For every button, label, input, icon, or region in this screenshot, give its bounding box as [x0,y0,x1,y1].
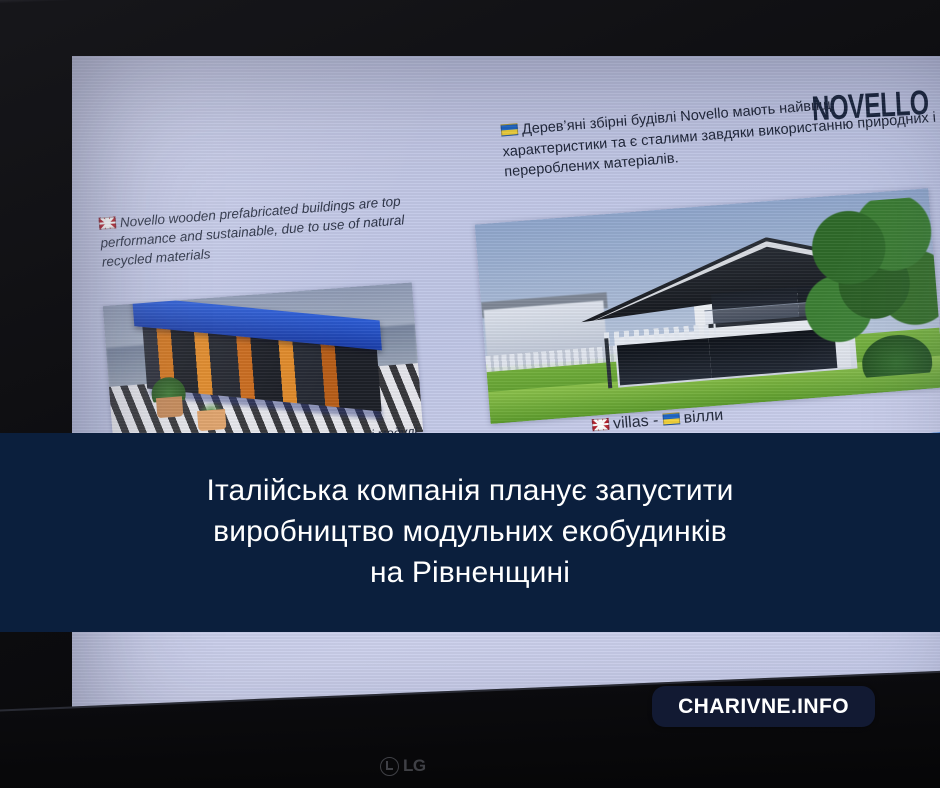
uk-flag-icon [99,216,117,229]
photo-villa [475,188,940,424]
headline-line-2: виробництво модульних екобудинків [213,515,727,548]
villa-bush [860,332,933,377]
ua-flag-icon [500,123,518,136]
novello-wordmark: NOVELLO [811,83,930,129]
lg-wordmark: LG [403,756,426,776]
site-brand-badge[interactable]: CHARIVNE.INFO [652,686,875,727]
presentation-slide: NOVELLO 1956 Novello wooden prefabricate… [72,56,940,766]
slide-text-english-body: Novello wooden prefabricated buildings a… [100,194,405,270]
tv-top-edge [0,0,940,5]
villa-porch [617,338,712,385]
lg-circle-icon [380,757,399,776]
headline-line-3: на Рівненщині [370,556,570,589]
module-planter [156,396,183,418]
caption-villas-uk: вілли [683,407,724,427]
caption-villas-separator: - [652,412,659,429]
headline-line-1: Італійська компанія планує запустити [207,474,734,507]
tv-screen: NOVELLO 1956 Novello wooden prefabricate… [72,56,940,766]
page-title: Італійська компанія планує запустити вир… [167,471,774,593]
headline-overlay-band: Італійська компанія планує запустити вир… [0,433,940,632]
uk-flag-icon [592,418,610,431]
lg-logo: LG [380,756,426,776]
slide-text-english: Novello wooden prefabricated buildings a… [98,189,431,272]
ua-flag-icon [662,412,680,425]
module-planter-2 [197,409,226,431]
news-card: NOVELLO 1956 Novello wooden prefabricate… [0,0,940,788]
caption-villas-en: villas [612,413,649,433]
site-brand-label: CHARIVNE.INFO [678,695,849,719]
